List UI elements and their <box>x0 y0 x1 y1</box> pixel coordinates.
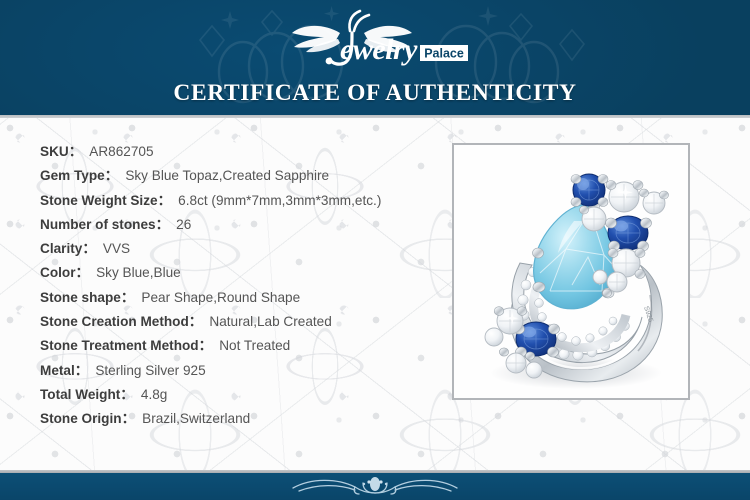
specification-list: SKU ： AR862705 Gem Type ： Sky Blue Topaz… <box>40 140 440 432</box>
spec-colon: ： <box>75 359 89 379</box>
spec-label: Total Weight <box>40 387 120 402</box>
spec-row-number-of-stones: Number of stones ： 26 <box>40 213 440 237</box>
brand-logo: ewelry Palace <box>0 10 750 70</box>
spec-value: Sterling Silver 925 <box>95 363 205 378</box>
spec-label: Stone Weight Size <box>40 193 158 208</box>
spec-colon: ： <box>156 213 170 233</box>
ring-photo-illustration: S925 <box>454 145 688 398</box>
spec-value: VVS <box>103 241 130 256</box>
spec-colon: ： <box>121 286 135 306</box>
spec-label: Clarity <box>40 241 82 256</box>
spec-value: 4.8g <box>141 387 167 402</box>
spec-row-stone-weight-size: Stone Weight Size ： 6.8ct (9mm*7mm,3mm*3… <box>40 189 440 213</box>
product-photo-frame: S925 <box>452 143 690 400</box>
spec-label: Stone Origin <box>40 411 122 426</box>
spec-value: Not Treated <box>219 338 290 353</box>
spec-colon: ： <box>120 383 134 403</box>
spec-row-total-weight: Total Weight ： 4.8g <box>40 383 440 407</box>
spec-value: Pear Shape,Round Shape <box>141 290 300 305</box>
spec-row-stone-treatment-method: Stone Treatment Method ： Not Treated <box>40 334 440 358</box>
spec-value: AR862705 <box>89 144 153 159</box>
spec-label: Metal <box>40 363 75 378</box>
spec-colon: ： <box>82 237 96 257</box>
spec-colon: ： <box>189 310 203 330</box>
spec-colon: ： <box>158 189 172 209</box>
certificate-footer <box>0 473 750 500</box>
spec-row-stone-shape: Stone shape ： Pear Shape,Round Shape <box>40 286 440 310</box>
spec-value: 6.8ct (9mm*7mm,3mm*3mm,etc.) <box>178 193 381 208</box>
spec-value: Sky Blue Topaz,Created Sapphire <box>125 168 329 183</box>
spec-label: SKU <box>40 144 69 159</box>
spec-label: Stone Treatment Method <box>40 338 199 353</box>
page-title: CERTIFICATE OF AUTHENTICITY <box>0 80 750 107</box>
spec-row-metal: Metal ： Sterling Silver 925 <box>40 359 440 383</box>
spec-colon: ： <box>199 334 213 354</box>
spec-row-stone-creation-method: Stone Creation Method ： Natural,Lab Crea… <box>40 310 440 334</box>
spec-value: Natural,Lab Created <box>209 314 331 329</box>
spec-value: Brazil,Switzerland <box>142 411 250 426</box>
spec-colon: ： <box>122 407 136 427</box>
header-bottom-divider <box>0 115 750 118</box>
spec-colon: ： <box>105 164 119 184</box>
certificate-header: ewelry Palace CERTIFICATE OF AUTHENTICIT… <box>0 0 750 118</box>
spec-row-sku: SKU ： AR862705 <box>40 140 440 164</box>
spec-row-stone-origin: Stone Origin ： Brazil,Switzerland <box>40 407 440 431</box>
spec-row-color: Color ： Sky Blue,Blue <box>40 261 440 285</box>
product-photo: S925 <box>454 145 688 398</box>
spec-label: Color <box>40 265 76 280</box>
jewelry-palace-logo-icon: ewelry Palace <box>280 9 470 71</box>
spec-label: Stone shape <box>40 290 121 305</box>
spec-label: Stone Creation Method <box>40 314 189 329</box>
spec-value: 26 <box>176 217 191 232</box>
spec-row-gem-type: Gem Type ： Sky Blue Topaz,Created Sapphi… <box>40 164 440 188</box>
spec-value: Sky Blue,Blue <box>96 265 181 280</box>
spec-label: Gem Type <box>40 168 105 183</box>
svg-text:Palace: Palace <box>424 47 464 61</box>
spec-label: Number of stones <box>40 217 156 232</box>
spec-colon: ： <box>76 261 90 281</box>
flourish-ornament-icon <box>285 475 465 499</box>
spec-colon: ： <box>69 140 83 160</box>
spec-row-clarity: Clarity ： VVS <box>40 237 440 261</box>
